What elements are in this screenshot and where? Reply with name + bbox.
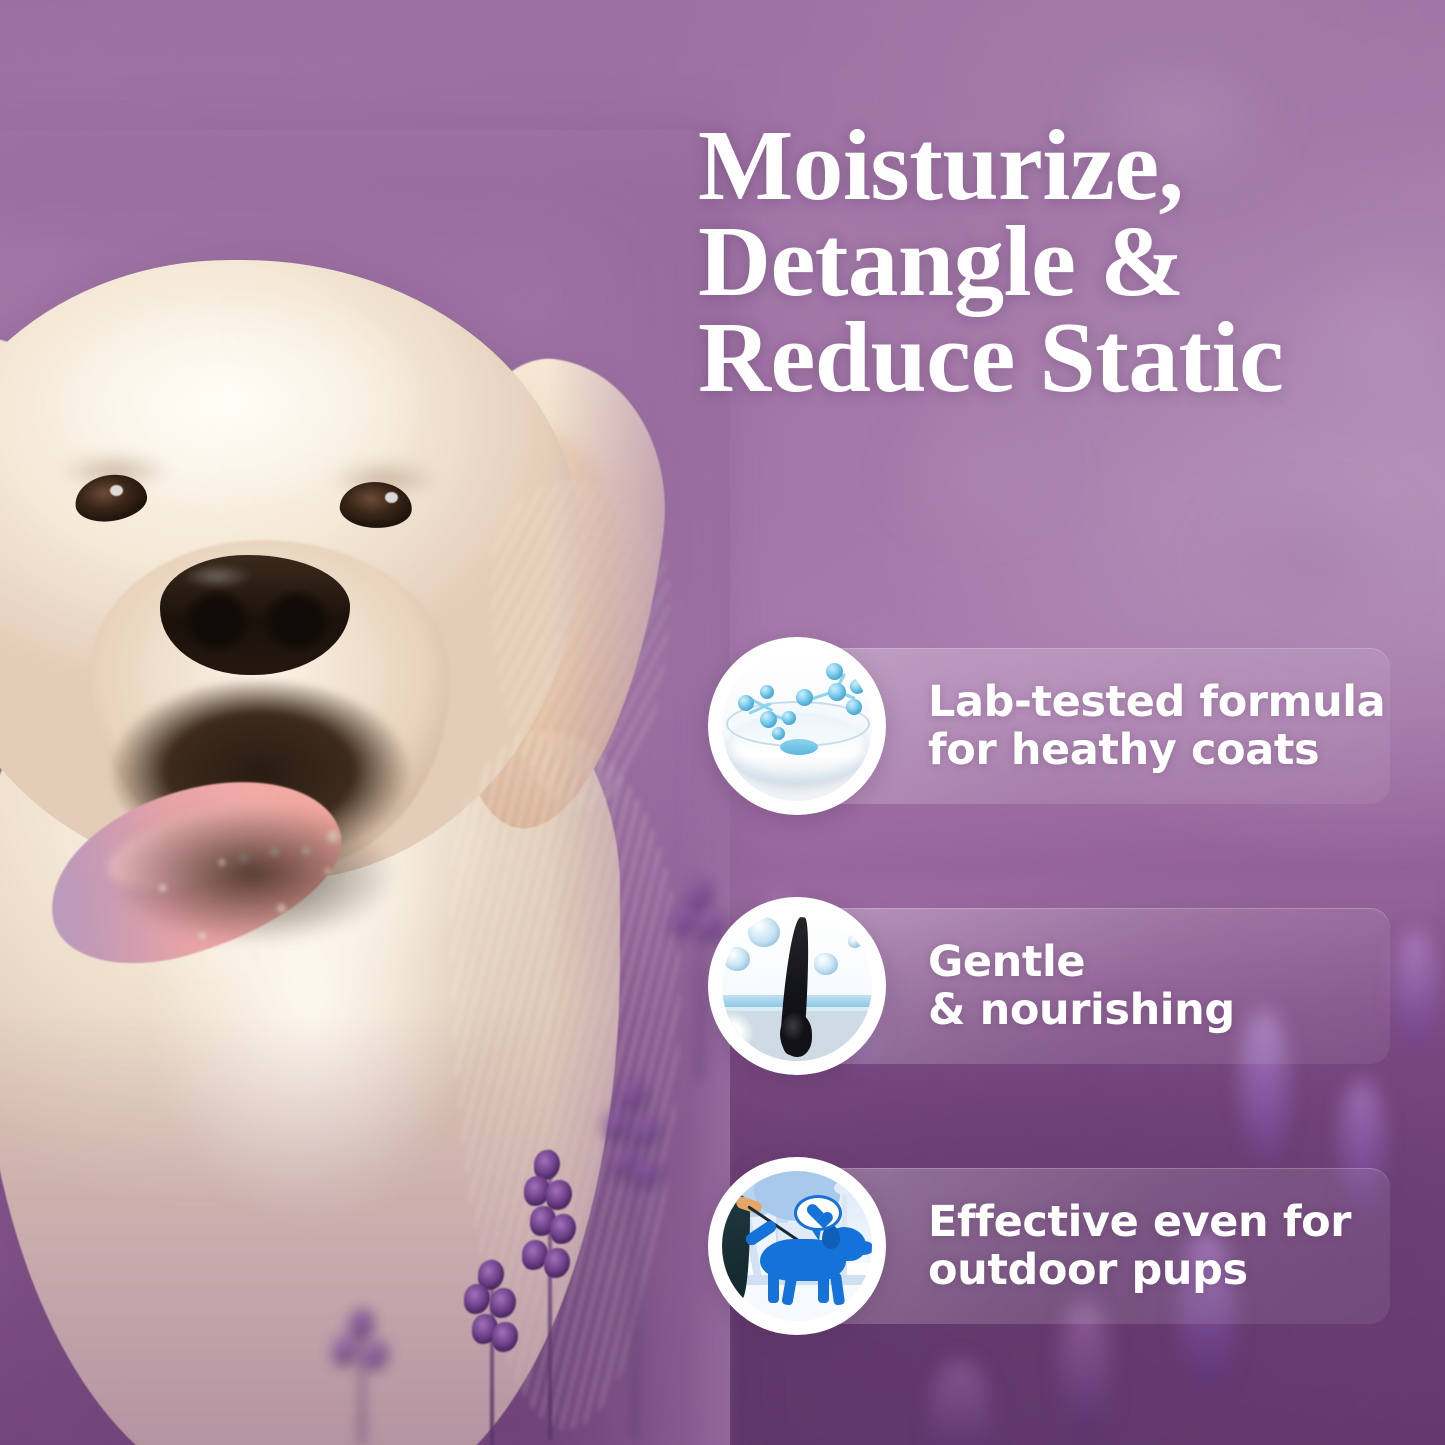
headline-line-2: Detangle & — [698, 214, 1428, 310]
dog-walking-icon — [708, 1157, 886, 1335]
dog-photo — [0, 130, 730, 1445]
feature-card-gentle[interactable]: Gentle & nourishing — [690, 908, 1390, 1064]
product-feature-poster: Moisturize, Detangle & Reduce Static — [0, 0, 1445, 1445]
dog-beard-speckles — [90, 820, 420, 990]
petri-dish-molecule-icon — [708, 637, 886, 815]
dog-eye-glint-left — [110, 485, 123, 496]
feature-card-outdoor[interactable]: Effective even for outdoor pups — [690, 1168, 1390, 1324]
headline-line-3: Reduce Static — [698, 310, 1428, 406]
feature-card-label: Lab-tested formula for heathy coats — [928, 678, 1385, 774]
feature-card-label: Gentle & nourishing — [928, 938, 1235, 1034]
feature-card-lab-tested[interactable]: Lab-tested formula for heathy coats — [690, 648, 1390, 804]
hair-follicle-icon — [708, 897, 886, 1075]
headline-line-1: Moisturize, — [698, 118, 1428, 214]
feature-card-label: Effective even for outdoor pups — [928, 1198, 1351, 1294]
dog-field-haze — [0, 1010, 730, 1445]
dog-nose-highlight — [185, 565, 265, 593]
dog-eye-glint-right — [385, 492, 398, 503]
headline: Moisturize, Detangle & Reduce Static — [698, 118, 1428, 406]
feature-card-list: Lab-tested formula for heathy coats — [690, 648, 1390, 1324]
dog-skull-highlight — [0, 280, 500, 580]
